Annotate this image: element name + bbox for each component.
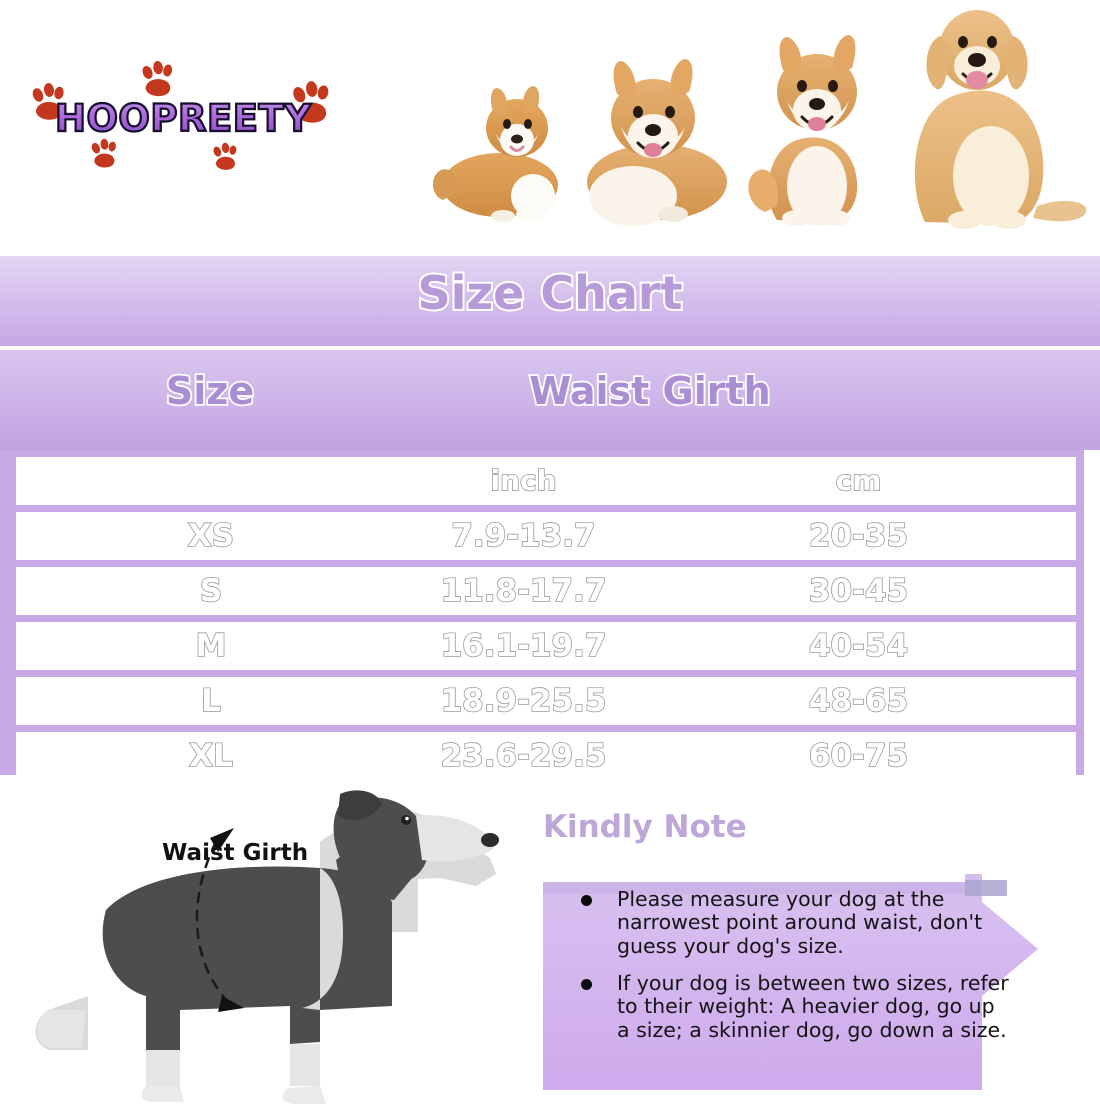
cell-cm: 60-75: [751, 732, 966, 780]
table-row: XS 7.9-13.7 20-35: [16, 512, 1076, 560]
note-text: Please measure your dog at the narrowest…: [617, 887, 982, 958]
kindly-note-title: Kindly Note: [543, 812, 747, 843]
cell-inch: 7.9-13.7: [406, 512, 641, 560]
size-chart-title: Size Chart: [0, 270, 1100, 316]
cell-inch: 18.9-25.5: [406, 677, 641, 725]
cell-size: S: [126, 567, 296, 615]
list-item: Please measure your dog at the narrowest…: [573, 888, 1013, 958]
cell-inch: 23.6-29.5: [406, 732, 641, 780]
cell-cm: 30-45: [751, 567, 966, 615]
brand-name: HOOPREETY: [55, 100, 312, 137]
bottom-section: Waist Girth Kindly Note P: [0, 782, 1100, 1108]
kindly-note-box: Please measure your dog at the narrowest…: [535, 874, 1065, 1090]
dog-golden-retriever: [915, 10, 1087, 229]
waist-girth-diagram: [20, 782, 520, 1108]
note-text: If your dog is between two sizes, refer …: [617, 971, 1009, 1042]
size-table: inch cm XS 7.9-13.7 20-35 S 11.8-17.7 30…: [0, 450, 1084, 775]
table-group-header: Size Waist Girth: [0, 350, 1100, 450]
cell-inch: 16.1-19.7: [406, 622, 641, 670]
dog-photo-row: [425, 0, 1090, 232]
cell-cm: 40-54: [751, 622, 966, 670]
table-row: L 18.9-25.5 48-65: [16, 677, 1076, 725]
column-header-waist-girth: Waist Girth: [470, 372, 830, 410]
waist-girth-label: Waist Girth: [162, 840, 308, 866]
header-bar: HOOPREETY: [0, 0, 1100, 240]
kindly-note-section: Kindly Note Please measure your dog: [535, 782, 1100, 1108]
cell-size: [126, 457, 296, 505]
list-item: If your dog is between two sizes, refer …: [573, 972, 1013, 1042]
bullet-icon: [581, 895, 592, 906]
table-row: M 16.1-19.7 40-54: [16, 622, 1076, 670]
paw-print-icon: [88, 138, 124, 174]
dog-shiba-sitting: [748, 35, 857, 226]
column-header-size: Size: [120, 372, 300, 410]
table-row-units: inch cm: [16, 457, 1076, 505]
dog-corgi: [433, 86, 558, 222]
cell-cm: 48-65: [751, 677, 966, 725]
cell-unit-cm: cm: [751, 457, 966, 505]
cell-size: L: [126, 677, 296, 725]
cell-size: M: [126, 622, 296, 670]
cell-size: XS: [126, 512, 296, 560]
dog-shiba-lying: [587, 59, 727, 226]
kindly-note-list: Please measure your dog at the narrowest…: [573, 888, 1013, 1056]
bullet-icon: [581, 979, 592, 990]
size-chart-banner: Size Chart: [0, 256, 1100, 346]
cell-cm: 20-35: [751, 512, 966, 560]
table-row: XL 23.6-29.5 60-75: [16, 732, 1076, 780]
cell-unit-inch: inch: [406, 457, 641, 505]
paw-print-icon: [210, 142, 244, 176]
table-row: S 11.8-17.7 30-45: [16, 567, 1076, 615]
cell-inch: 11.8-17.7: [406, 567, 641, 615]
cell-size: XL: [126, 732, 296, 780]
